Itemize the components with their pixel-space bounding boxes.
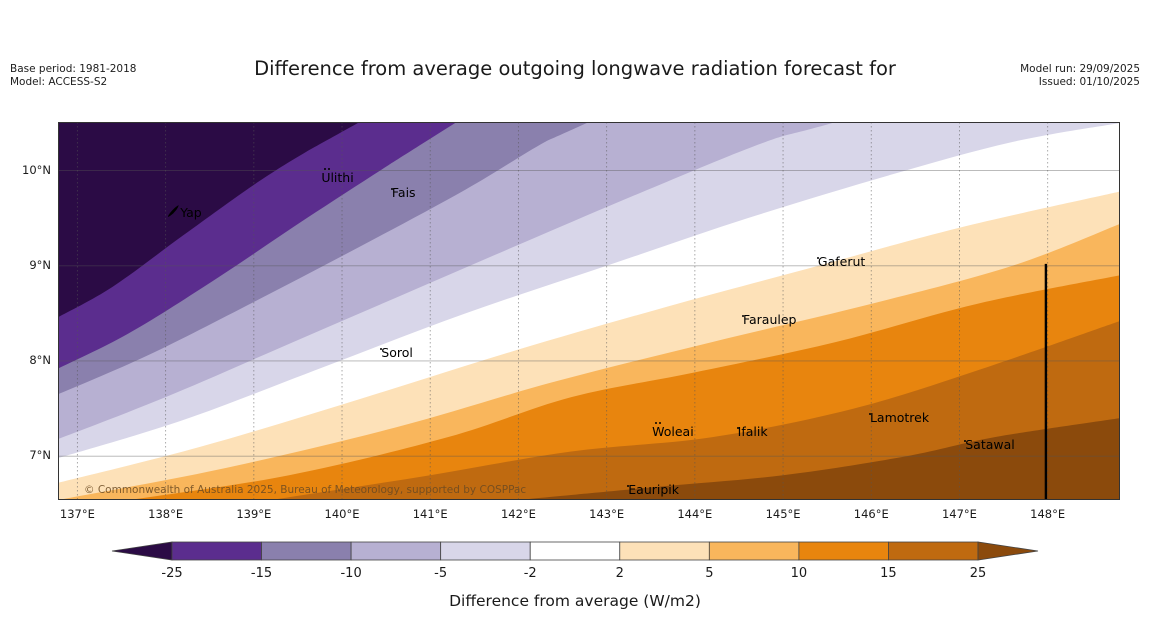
colorbar-tick-label: 15 (858, 566, 918, 581)
colorbar-segment (530, 542, 620, 560)
x-axis-tick-label: 147°E (919, 507, 999, 521)
colorbar-tick-label: -15 (232, 566, 292, 581)
colorbar-swatches (0, 534, 1150, 568)
x-axis-tick-label: 140°E (302, 507, 382, 521)
title-line-1: Difference from average outgoing longwav… (0, 56, 1150, 81)
colorbar-segment (262, 542, 352, 560)
colorbar-tick-label: -5 (411, 566, 471, 581)
colorbar-axis-title: Difference from average (W/m2) (0, 592, 1150, 610)
colorbar-segment (351, 542, 441, 560)
figure-canvas: Difference from average outgoing longwav… (0, 0, 1150, 644)
issued-text: Issued: 01/10/2025 (1020, 76, 1140, 89)
x-axis-tick-label: 142°E (478, 507, 558, 521)
x-axis-tick-label: 144°E (655, 507, 735, 521)
colorbar-tick-label: -2 (500, 566, 560, 581)
x-axis-tick-label: 145°E (743, 507, 823, 521)
colorbar-tick-label: 10 (769, 566, 829, 581)
x-axis-tick-label: 143°E (567, 507, 647, 521)
place-marker-dot (328, 168, 330, 170)
colorbar-segment (441, 542, 531, 560)
colorbar-extend-low (112, 542, 172, 560)
x-axis-tick-label: 138°E (126, 507, 206, 521)
colorbar-tick-label: 2 (590, 566, 650, 581)
y-axis-tick-label: 7°N (29, 448, 51, 462)
y-axis-tick-label: 8°N (29, 353, 51, 367)
x-axis-tick-label: 146°E (831, 507, 911, 521)
base-period-text: Base period: 1981-2018 (10, 63, 136, 76)
place-marker-dot (742, 315, 744, 317)
colorbar-tick-label: 25 (948, 566, 1008, 581)
colorbar-segment (799, 542, 889, 560)
colorbar (0, 534, 1150, 594)
x-axis-tick-label: 148°E (1008, 507, 1088, 521)
x-axis-tick-label: 137°E (37, 507, 117, 521)
place-marker-dot (817, 257, 819, 259)
model-text: Model: ACCESS-S2 (10, 76, 136, 89)
colorbar-tick-label: -10 (321, 566, 381, 581)
metadata-right: Model run: 29/09/2025 Issued: 01/10/2025 (1020, 63, 1140, 89)
model-run-text: Model run: 29/09/2025 (1020, 63, 1140, 76)
colorbar-extend-high (978, 542, 1038, 560)
x-axis-tick-label: 139°E (214, 507, 294, 521)
colorbar-segment (709, 542, 799, 560)
place-marker-dot (659, 422, 661, 424)
contour-field-svg (58, 122, 1120, 500)
colorbar-tick-label: 5 (679, 566, 739, 581)
place-marker-dot (627, 485, 629, 487)
metadata-left: Base period: 1981-2018 Model: ACCESS-S2 (10, 63, 136, 89)
copyright-credit: © Commonwealth of Australia 2025, Bureau… (84, 484, 526, 496)
colorbar-segment (620, 542, 710, 560)
y-axis-tick-label: 9°N (29, 258, 51, 272)
x-axis-tick-label: 141°E (390, 507, 470, 521)
y-axis-tick-label: 10°N (22, 163, 51, 177)
place-marker-dot (324, 168, 326, 170)
colorbar-segment (888, 542, 978, 560)
colorbar-segment (172, 542, 262, 560)
colorbar-tick-label: -25 (142, 566, 202, 581)
island-shape-icon (167, 203, 180, 216)
map-contour-plot (58, 122, 1120, 500)
